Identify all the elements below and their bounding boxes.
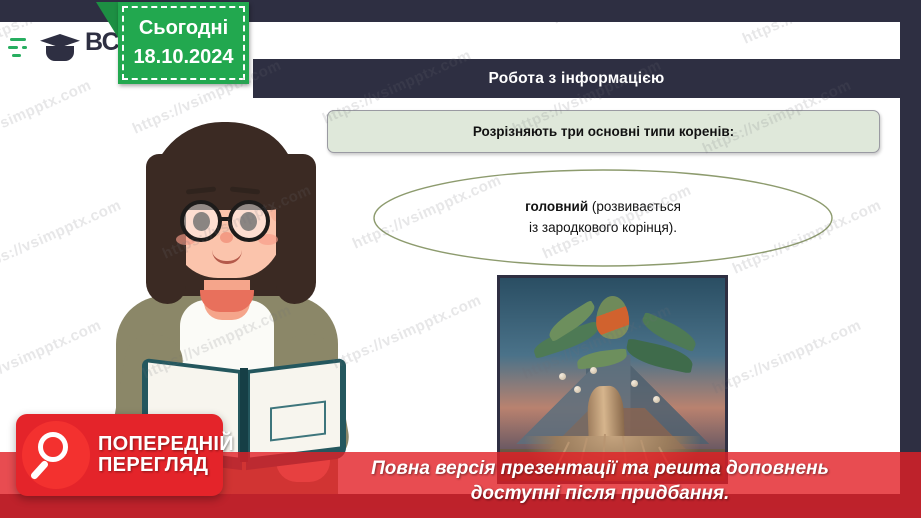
ellipse-line-1-rest: (розвивається	[588, 199, 681, 214]
today-date: 18.10.2024	[133, 43, 233, 72]
callout-box: Розрізняють три основні типи коренів:	[327, 110, 880, 153]
ellipse-shape: головний (розвивається із зародкового ко…	[372, 168, 834, 268]
ellipse-line-1: головний (розвивається	[525, 197, 681, 218]
preview-badge[interactable]: ПОПЕРЕДНІЙ ПЕРЕГЛЯД	[16, 414, 223, 496]
slide-title-bar: Робота з інформацією	[253, 59, 900, 98]
preview-badge-line-1: ПОПЕРЕДНІЙ	[98, 434, 234, 455]
berry	[574, 386, 581, 393]
watermark-text: https://vsimpptx.com	[550, 22, 704, 28]
glasses-lens-right	[228, 200, 270, 242]
watermark-text: https://vsimpptx.com	[0, 77, 94, 158]
watermark-text: https://vsimpptx.com	[0, 317, 104, 398]
glasses-bridge	[220, 217, 232, 221]
promo-banner-line-2: доступні після придбання.	[300, 481, 900, 506]
today-date-badge: Сьогодні 18.10.2024	[118, 2, 249, 84]
watermark-text: https://vsimpptx.com	[330, 292, 484, 373]
book-page-frame	[270, 401, 326, 442]
preview-badge-label: ПОПЕРЕДНІЙ ПЕРЕГЛЯД	[98, 434, 234, 476]
glasses-lens-left	[180, 200, 222, 242]
preview-badge-line-2: ПЕРЕГЛЯД	[98, 455, 234, 476]
berry	[631, 380, 638, 387]
hair-side-right	[276, 154, 316, 304]
speed-lines-icon	[8, 34, 38, 62]
nose	[220, 232, 233, 243]
slide-viewer: Робота з інформацією Розрізняють три осн…	[0, 0, 921, 518]
ellipse-text: головний (розвивається із зародкового ко…	[372, 168, 834, 268]
today-label: Сьогодні	[139, 14, 228, 43]
page-title: Робота з інформацією	[489, 70, 665, 88]
ellipse-term: головний	[525, 199, 588, 214]
promo-banner-line-1: Повна версія презентації та решта доповн…	[300, 456, 900, 481]
book-spine	[240, 368, 248, 462]
watermark-text: https://vsimpptx.com	[0, 197, 124, 278]
watermark-text: https://vsimpptx.com	[710, 317, 864, 398]
callout-text: Розрізняють три основні типи коренів:	[473, 124, 734, 139]
ellipse-line-2: із зародкового корінця).	[529, 218, 677, 239]
watermark-text: https://vsimpptx.com	[740, 22, 894, 48]
promo-banner-text: Повна версія презентації та решта доповн…	[300, 456, 900, 506]
hair-side-left	[146, 154, 186, 304]
flower-bud	[596, 296, 630, 339]
berry	[559, 373, 566, 380]
berry	[653, 396, 660, 403]
graduation-cap-icon	[40, 31, 80, 65]
magnifier-icon	[22, 421, 90, 489]
